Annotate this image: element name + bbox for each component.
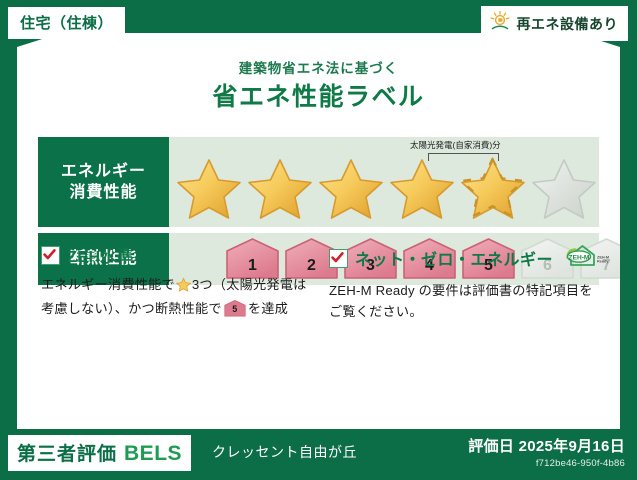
- note-zeh-standard-title: ZEH水準: [67, 243, 134, 267]
- energy-performance-stars-cell: 太陽光発電(自家消費)分: [169, 137, 599, 227]
- star-filled-solar: [459, 155, 527, 221]
- zeh-m-ready-logo: ZEH-M ZEH-M Ready: [565, 243, 615, 273]
- evaluation-date: 評価日 2025年9月16日: [468, 435, 625, 456]
- svg-text:Ready: Ready: [597, 260, 609, 264]
- checkbox-checked-icon: [329, 249, 348, 268]
- star-filled: [317, 155, 385, 221]
- note-net-zero-energy-header: ネット・ゼロ・エネルギー ZEH-M ZEH-M Ready: [329, 243, 599, 273]
- energy-label-line2: 消費性能: [69, 182, 137, 203]
- label-subtitle: 建築物省エネ法に基づく: [17, 57, 620, 77]
- checkbox-checked-icon: [41, 246, 60, 265]
- bels-badge-en: BELS: [124, 442, 182, 466]
- star-filled: [246, 155, 314, 221]
- energy-performance-row: エネルギー 消費性能 太陽光発電(自家消費)分: [38, 137, 599, 227]
- sun-solar-icon: [489, 10, 511, 37]
- building-name: クレッセント自由が丘: [212, 442, 357, 462]
- note-zeh-standard-body: エネルギー消費性能で3つ（太陽光発電は考慮しない）、かつ断熱性能で5を達成: [41, 274, 311, 320]
- svg-text:ZEH-M: ZEH-M: [569, 254, 590, 261]
- note-net-zero-energy: ネット・ゼロ・エネルギー ZEH-M ZEH-M Ready ZEH-M Rea…: [329, 243, 599, 323]
- note-text-part1: エネルギー消費性能で: [41, 277, 175, 292]
- footer-bar: 第三者評価 BELS クレッセント自由が丘 評価日 2025年9月16日 f71…: [0, 429, 637, 480]
- energy-label-line1: エネルギー: [61, 161, 146, 182]
- star-empty: [530, 155, 598, 221]
- bels-badge: 第三者評価 BELS: [8, 435, 191, 471]
- star-filled: [388, 155, 456, 221]
- star-icon: [176, 277, 191, 298]
- star-filled: [175, 155, 243, 221]
- note-zeh-standard: ZEH水準 エネルギー消費性能で3つ（太陽光発電は考慮しない）、かつ断熱性能で5…: [41, 243, 311, 323]
- note-net-zero-energy-body: ZEH-M Ready の要件は評価書の特記項目をご覧ください。: [329, 280, 599, 323]
- notes-section: ZEH水準 エネルギー消費性能で3つ（太陽光発電は考慮しない）、かつ断熱性能で5…: [41, 243, 599, 323]
- bels-badge-ja: 第三者評価: [17, 439, 117, 466]
- label-title: 省エネ性能ラベル: [17, 77, 620, 113]
- insulation-badge-icon: 5: [224, 300, 246, 317]
- renewable-badge-label: 再エネ設備あり: [517, 14, 619, 34]
- energy-performance-label-cell: エネルギー 消費性能: [38, 137, 169, 227]
- label-sheet: 建築物省エネ法に基づく 省エネ性能ラベル エネルギー 消費性能 太陽光発電(自家…: [17, 33, 620, 429]
- note-text-part3: を達成: [248, 301, 288, 316]
- insulation-badge-number: 5: [224, 302, 246, 317]
- evaluation-info: 評価日 2025年9月16日 f712be46-950f-4b86: [468, 435, 625, 469]
- solar-annotation-text: 太陽光発電(自家消費)分: [410, 139, 501, 151]
- evaluation-id: f712be46-950f-4b86: [468, 458, 625, 469]
- star-rating: [175, 155, 598, 221]
- energy-performance-label: 住宅（住棟） 再エネ設備あり 建: [0, 0, 637, 480]
- note-zeh-standard-header: ZEH水準: [41, 243, 311, 267]
- note-net-zero-energy-title: ネット・ゼロ・エネルギー: [355, 246, 553, 270]
